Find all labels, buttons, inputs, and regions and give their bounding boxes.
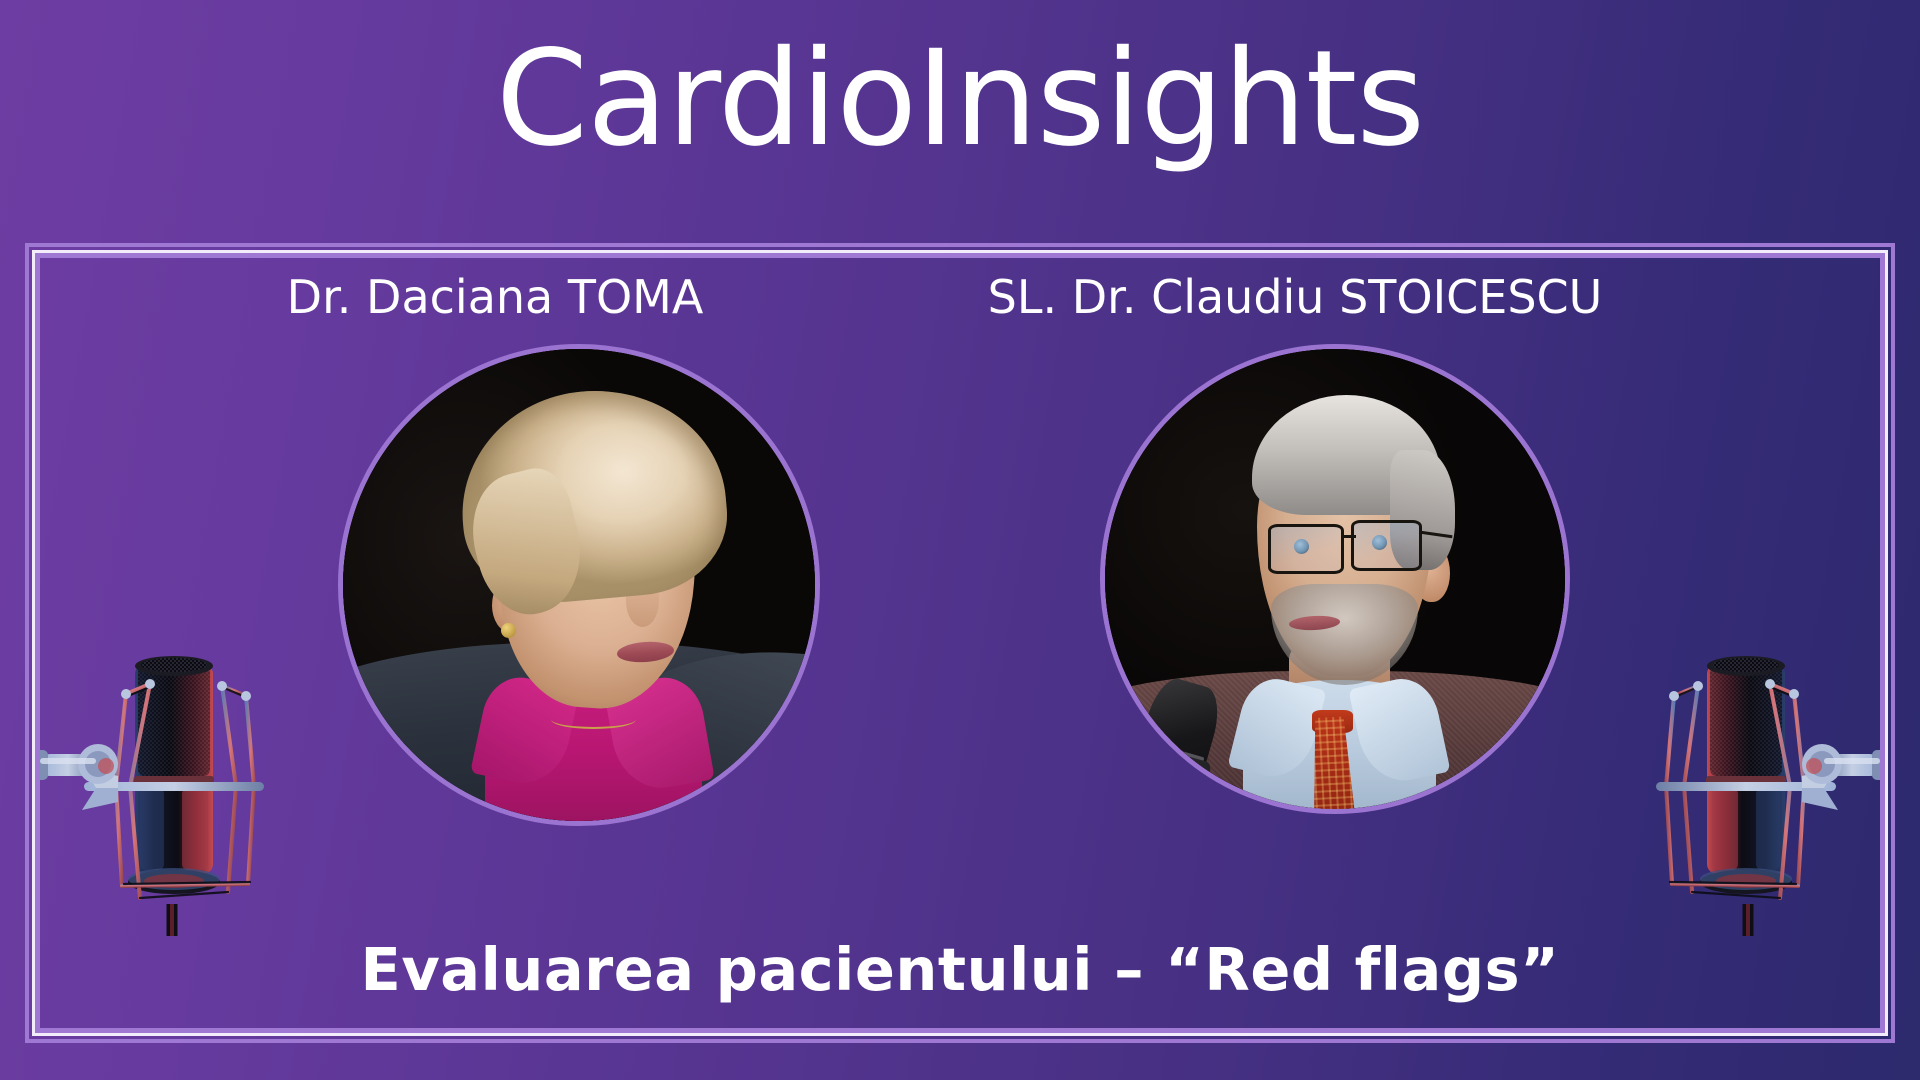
speaker-name-1: Dr. Daciana TOMA [165,270,825,324]
speaker-portrait-2 [1100,344,1570,814]
episode-headline: Evaluarea pacientului – “Red flags” [0,935,1920,1004]
speaker-name-2: SL. Dr. Claudiu STOICESCU [905,270,1685,324]
content-frame-inner-line [32,250,1888,1036]
speaker-portrait-1 [338,344,820,826]
content-frame-inner-band [35,253,1885,1033]
episode-thumbnail: CardioInsights [0,0,1920,1080]
avatar [343,349,815,821]
avatar [1105,349,1565,809]
content-frame [25,243,1895,1043]
show-title: CardioInsights [0,26,1920,174]
